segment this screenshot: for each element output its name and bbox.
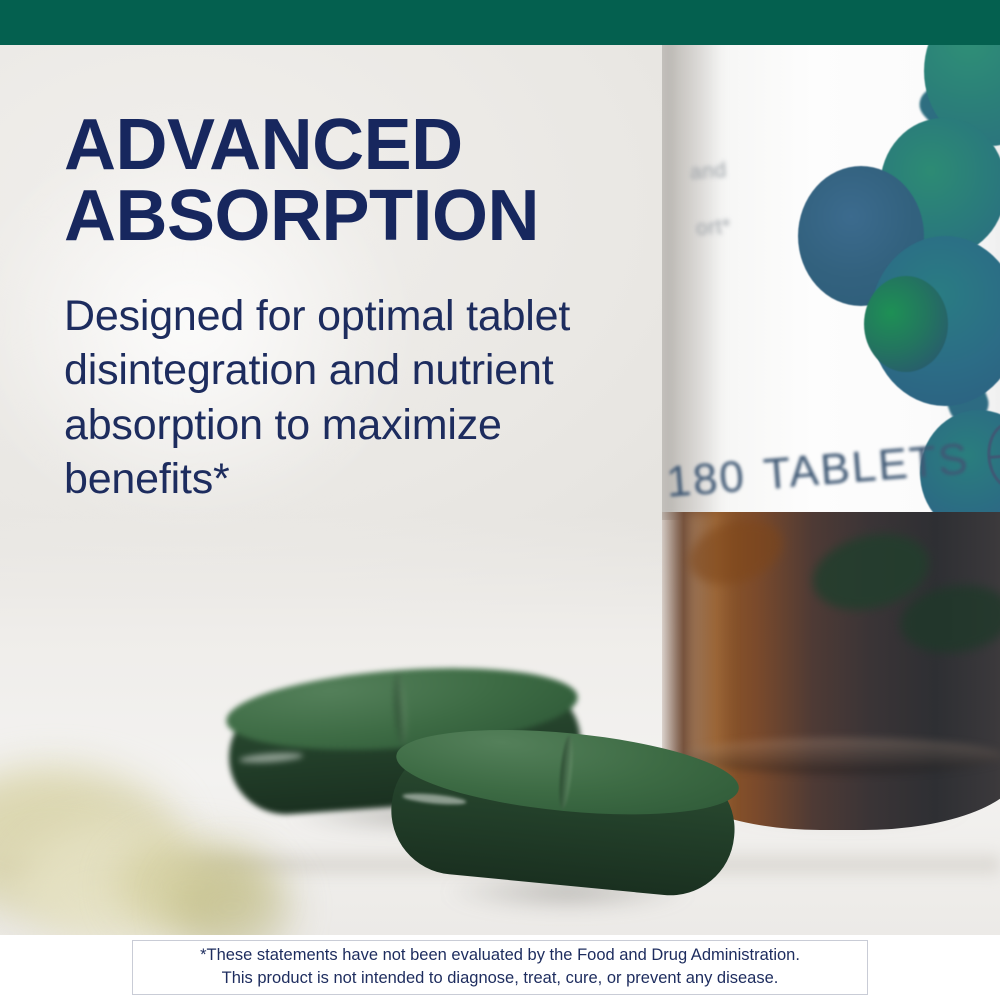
molecule-node-green [864, 276, 948, 372]
product-marketing-card: and ort* 180 TABLETS [0, 0, 1000, 1000]
bottle-label: and ort* 180 TABLETS [662, 45, 1000, 520]
footer-bar: *These statements have not been evaluate… [0, 935, 1000, 1000]
supplement-bottle: and ort* 180 TABLETS [662, 45, 1000, 830]
label-blurred-text-line-2: ort* [695, 215, 732, 241]
fda-disclaimer: *These statements have not been evaluate… [132, 940, 868, 996]
label-tablet-count: 180 [665, 452, 748, 508]
tablet-score-line [557, 735, 575, 810]
label-blurred-text-line-1: and [689, 159, 727, 186]
page-title: ADVANCED ABSORPTION [64, 110, 664, 253]
tablet-oval-scored-icon [985, 420, 1000, 492]
disclaimer-line-1: *These statements have not been evaluate… [143, 944, 857, 967]
body-copy: Designed for optimal tablet disintegrati… [64, 289, 634, 507]
label-tablet-unit: TABLETS [762, 434, 972, 500]
marketing-copy-block: ADVANCED ABSORPTION Designed for optimal… [64, 110, 664, 507]
brand-accent-bar [0, 0, 1000, 45]
disclaimer-line-2: This product is not intended to diagnose… [143, 967, 857, 990]
